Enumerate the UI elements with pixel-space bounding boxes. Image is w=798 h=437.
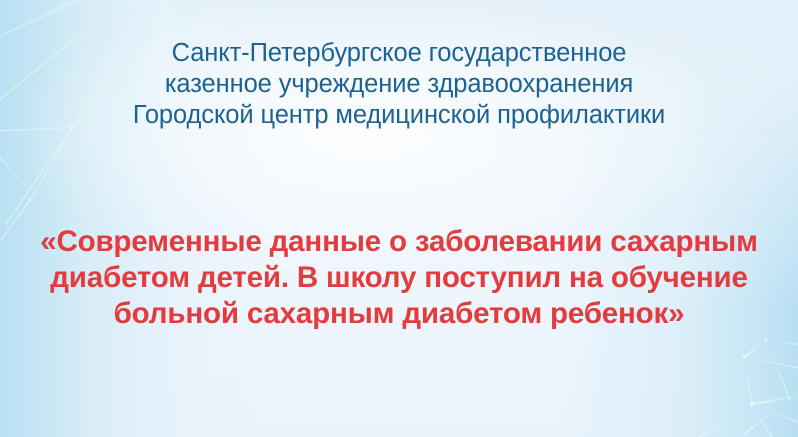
organisation-header-line-2: казенное учреждение здравоохранения <box>0 69 798 100</box>
organisation-header-line-1: Санкт-Петербургское государственное <box>0 38 798 69</box>
presentation-title: «Современные данные о заболевании сахарн… <box>0 224 798 332</box>
presentation-title-line-3: больной сахарным диабетом ребенок» <box>6 296 792 332</box>
network-nodes-bottom-right <box>742 339 767 407</box>
organisation-header: Санкт-Петербургское государственное казе… <box>0 38 798 131</box>
presentation-title-line-1: «Современные данные о заболевании сахарн… <box>6 224 792 260</box>
organisation-header-line-3: Городской центр медицинской профилактики <box>0 100 798 131</box>
network-lines-bottom-right <box>700 340 798 437</box>
presentation-title-line-2: диабетом детей. В школу поступил на обуч… <box>6 260 792 296</box>
presentation-slide: Санкт-Петербургское государственное казе… <box>0 0 798 437</box>
